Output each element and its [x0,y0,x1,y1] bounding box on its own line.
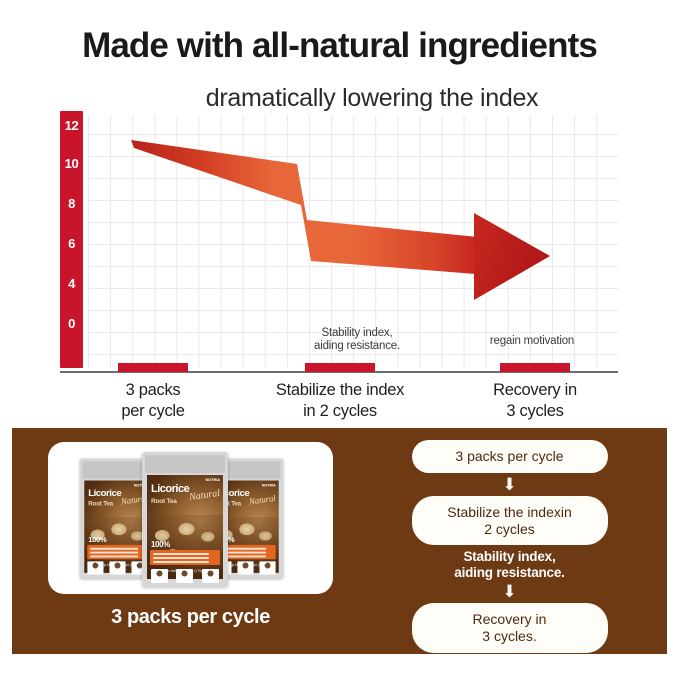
pack-feature-line-3 [90,555,138,557]
chart-annotation-motivation: regain motivation [458,335,606,348]
flow-step-1-label: 3 packs per cycle [455,448,563,464]
kettle-icon [259,561,275,574]
bottom-brown-panel: NUTRIA Licorice Root Tea Natural 100% 60… [12,428,667,654]
y-tick-0: 0 [60,316,83,331]
flow-step-3-line1: Recovery in [422,611,598,628]
flow-note-stability-line1: Stability index, [402,549,617,565]
page-title: Made with all-natural ingredients [0,26,679,66]
pack-title-label: Licorice [151,484,189,495]
x-axis-label-1: 3 packs per cycle [78,380,228,421]
teacup-icon [87,561,103,574]
chart-annotation-stability-line1: Stability index, [282,327,432,340]
chart-annotation-motivation-line1: regain motivation [458,335,606,348]
pack-feature-strip [87,545,147,559]
flow-arrow-down-icon-2: ⬇ [502,583,518,600]
pack-script-label: Natural [188,488,220,503]
pack-brand-label: NUTRIA [205,477,220,482]
product-image-card: NUTRIA Licorice Root Tea Natural 100% 60… [48,442,333,594]
x-axis-label-3-line2: 3 cycles [455,401,615,422]
pack-feature-line-1 [90,548,138,550]
flow-arrow-down-icon-1: ⬇ [502,476,518,493]
pack-feature-line-1 [153,553,209,555]
y-tick-12: 12 [60,118,83,133]
x-axis-label-2-line1: Stabilize the index [250,380,430,401]
chart-annotation-stability-line2: aiding resistance. [282,340,432,353]
pack-feature-strip [150,550,220,565]
top-section: Made with all-natural ingredients dramat… [0,0,679,428]
flow-step-2[interactable]: Stabilize the indexin 2 cycles [412,496,608,546]
flow-step-2-line2: 2 cycles [422,521,598,538]
flow-step-3[interactable]: Recovery in 3 cycles. [412,603,608,653]
leaf-icon [109,561,125,574]
pack-title-label: Licorice [88,489,121,499]
chart-annotation-stability: Stability index, aiding resistance. [282,327,432,353]
y-tick-10: 10 [60,156,83,171]
axis-stub-1 [118,363,188,372]
product-pack-center: NUTRIA Licorice Root Tea Natural 100% 60… [142,452,228,587]
usage-flow: 3 packs per cycle ⬇ Stabilize the indexi… [387,440,632,673]
teacup-icon [151,569,168,583]
pack-feature-line-2 [90,552,138,554]
axis-stub-2 [305,363,375,372]
pack-feature-line-2 [153,557,209,559]
y-tick-8: 8 [60,196,83,211]
pack-feature-line-3 [153,561,209,563]
flow-note-stability-line2: aiding resistance. [402,565,617,581]
product-caption: 3 packs per cycle [48,606,333,629]
leaf-icon [237,561,253,574]
pack-brand-label: NUTRIA [262,483,276,488]
pack-zip-icon [145,455,225,473]
x-axis-label-1-line2: per cycle [78,401,228,422]
pack-footer-icons [147,567,223,585]
axis-stub-3 [500,363,570,372]
flow-step-1[interactable]: 3 packs per cycle [412,440,608,473]
x-axis-label-3: Recovery in 3 cycles [455,380,615,421]
leaf-icon [176,569,193,583]
x-axis-label-2-line2: in 2 cycles [250,401,430,422]
flow-step-3-line2: 3 cycles. [422,628,598,645]
pack-badge-label: 100% [151,540,170,549]
x-axis-label-2: Stabilize the index in 2 cycles [250,380,430,421]
flow-step-2-line1: Stabilize the indexin [422,504,598,521]
kettle-icon [202,569,219,583]
x-axis-label-3-line1: Recovery in [455,380,615,401]
x-axis-label-1-line1: 3 packs [78,380,228,401]
pack-footer-icons [84,559,150,576]
flow-note-motivation: regain motivation [402,657,617,671]
pack-script-label: Natural [248,493,276,506]
index-chart: 12 10 8 6 4 0 [60,115,618,370]
pack-subtitle-label: Root Tea [88,501,113,508]
pack-badge-label: 100% [88,535,106,544]
chart-subtitle: dramatically lowering the index [92,84,652,113]
flow-note-stability: Stability index, aiding resistance. [402,549,617,580]
pack-subtitle-label: Root Tea [151,498,177,505]
y-tick-4: 4 [60,276,83,291]
chart-y-axis: 12 10 8 6 4 0 [60,111,83,368]
y-tick-6: 6 [60,236,83,251]
pack-face: NUTRIA Licorice Root Tea Natural 100% 60… [147,475,223,579]
